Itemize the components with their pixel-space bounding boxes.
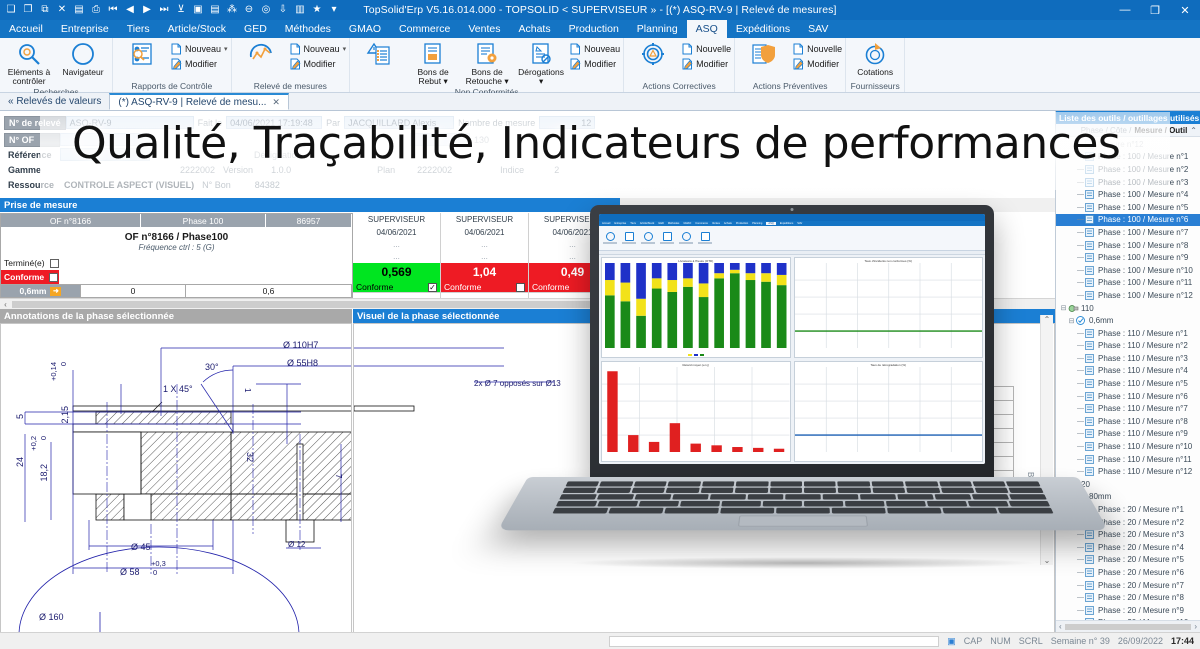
document-tab-0[interactable]: « Relevés de valeurs xyxy=(0,93,109,110)
chevron-down-icon[interactable]: ▾ xyxy=(224,45,228,53)
scrap-doc-icon xyxy=(420,41,446,67)
keyboard-key xyxy=(975,488,1009,493)
page-new-icon xyxy=(792,43,804,55)
mini-gear-icon xyxy=(682,232,691,241)
actions-correctives-button[interactable] xyxy=(627,40,679,68)
keyboard-key xyxy=(1009,488,1044,493)
bons-de-retouche-button-label: Bons de Retouche ▾ xyxy=(461,68,513,86)
status-date: 26/09/2022 xyxy=(1118,636,1163,646)
dim-182: 18,2 xyxy=(39,464,49,482)
pencil-page-icon xyxy=(289,58,301,70)
status-week: Semaine n° 39 xyxy=(1051,636,1110,646)
keyboard-key xyxy=(823,494,859,499)
nav-next-icon[interactable]: ▶ xyxy=(140,3,154,17)
keyboard-key xyxy=(838,481,870,486)
rapport-modifier-button[interactable]: Modifier xyxy=(170,58,228,70)
keyboard-key xyxy=(770,481,802,486)
label-numero-of: N° OF xyxy=(4,133,60,147)
releve-nouveau-button[interactable]: Nouveau▾ xyxy=(289,43,347,55)
keyboard-key xyxy=(804,501,843,506)
releve-modifier-button-label: Modifier xyxy=(304,59,336,69)
menu-tab-accueil[interactable]: Accueil xyxy=(0,20,52,38)
report-icon[interactable]: ▤ xyxy=(208,3,222,17)
chevron-down-icon[interactable]: ▾ xyxy=(343,45,347,53)
tree-twisty[interactable]: — xyxy=(1076,191,1085,198)
annotations-pane: Annotations de la phase sélectionnée xyxy=(0,309,352,632)
column-dots-1: ... xyxy=(353,239,440,251)
measure-icon xyxy=(1085,618,1096,620)
menu-tab-m-thodes[interactable]: Méthodes xyxy=(276,20,340,38)
save-icon[interactable]: ▤ xyxy=(72,3,86,17)
dim-182-tol-up: +0,2 xyxy=(29,436,38,451)
annotations-pane-body[interactable]: Ø 110H7 Ø 55H8 30° 1 X 45° Ø 45 Ø 58 +0,… xyxy=(0,323,352,632)
rework-doc-icon xyxy=(474,41,500,67)
column-date: 04/06/2021 xyxy=(353,226,440,239)
ap-nouvelle-button-label: Nouvelle xyxy=(807,44,842,54)
footer-tolerance: 0,6mm ➜ xyxy=(1,285,81,297)
status-num: NUM xyxy=(990,636,1011,646)
scroll-left-icon[interactable]: ‹ xyxy=(0,300,11,309)
tree-twisty[interactable]: — xyxy=(1076,607,1085,614)
ribbon-small-buttons: NouvelleModifier xyxy=(681,40,731,70)
mini-shield-icon xyxy=(701,232,710,241)
rapports-de-controle-button[interactable] xyxy=(116,40,168,68)
favorite-icon[interactable]: ★ xyxy=(310,3,324,17)
warning-list-icon xyxy=(366,41,392,67)
status-cap: CAP xyxy=(964,636,983,646)
menu-tab-entreprise[interactable]: Entreprise xyxy=(52,20,118,38)
keyboard-key xyxy=(1006,481,1040,486)
tree-twisty[interactable]: — xyxy=(1076,619,1085,620)
dim-30deg: 30° xyxy=(205,362,219,372)
measurement-column-1[interactable]: SUPERVISEUR04/06/2021......0,569Conforme… xyxy=(353,213,441,298)
column-conforme-checkbox[interactable] xyxy=(516,283,525,292)
magnifier-target-icon xyxy=(16,41,42,67)
dim-215: 2,15 xyxy=(60,406,70,424)
dim-58: Ø 58 xyxy=(120,567,140,577)
tree-scroll-right-icon[interactable]: › xyxy=(1194,622,1197,631)
main-menu-bar[interactable]: AccueilEntrepriseTiersArticle/StockGEDMé… xyxy=(0,20,1200,38)
measure-icon xyxy=(1085,228,1096,237)
tree-node-label: Phase : 20 / Mesure n°2 xyxy=(1098,518,1184,527)
field-ressource[interactable]: CONTROLE ASPECT (VISUEL) xyxy=(60,180,198,190)
mini-ribbon-group xyxy=(698,232,712,244)
collapse-icon[interactable]: ⌃ xyxy=(1190,126,1197,135)
mini-label xyxy=(660,242,674,244)
mini-menu-tab: Expéditions xyxy=(780,222,793,225)
nc-modifier-button[interactable]: Modifier xyxy=(569,58,620,70)
pencil-page-icon xyxy=(792,58,804,70)
keyboard-key xyxy=(887,508,942,514)
measure-icon xyxy=(1085,190,1096,199)
footer-min: 0 xyxy=(81,285,186,297)
ribbon-group-title: Fournisseurs xyxy=(849,81,901,92)
nc-nouveau-button-label: Nouveau xyxy=(584,44,620,54)
field-numero-bon[interactable]: 84382 xyxy=(251,180,284,190)
navigateur-button-label: Navigateur xyxy=(62,68,103,77)
measure-icon xyxy=(1085,278,1096,287)
gear-warning-icon xyxy=(640,41,666,67)
filter-icon[interactable]: ⊻ xyxy=(174,3,188,17)
derogations-button-label: Dérogations ▾ xyxy=(515,68,567,86)
tree-node-label: Phase : 110 / Mesure n°1 xyxy=(1098,329,1188,338)
termine-row[interactable]: Terminé(e) xyxy=(1,256,352,270)
keyboard-key xyxy=(631,488,665,493)
column-conforme-label: Conforme xyxy=(444,282,481,292)
trend-chart-icon xyxy=(248,41,274,67)
cotations-button[interactable]: Cotations xyxy=(849,40,901,78)
ribbon-group-non-conformit-s: Bons de Rebut ▾Bons de Retouche ▾Dérogat… xyxy=(350,38,624,92)
tree-node-label: Phase : 110 / Mesure n°5 xyxy=(1098,379,1188,388)
bons-de-retouche-button[interactable]: Bons de Retouche ▾ xyxy=(461,40,513,87)
keyboard-key xyxy=(998,508,1054,514)
mini-search-icon xyxy=(606,232,615,241)
keyboard-key xyxy=(968,501,1009,506)
keyboard-key xyxy=(680,501,720,506)
tree-node-label: Phase : 110 / Mesure n°7 xyxy=(1098,404,1188,413)
dim-32: 32 xyxy=(245,452,255,462)
keyboard-row xyxy=(562,488,1043,493)
menu-tab-tiers[interactable]: Tiers xyxy=(118,20,159,38)
column-footer xyxy=(441,292,528,298)
measure-icon xyxy=(1085,379,1096,388)
menu-tab-achats[interactable]: Achats xyxy=(509,20,559,38)
chart-taux-retrogradation: Taux de rétrogradation (%) xyxy=(794,361,984,462)
elements-a-controler-button-label: Eléments à contrôler xyxy=(3,68,55,86)
keyboard-row xyxy=(552,508,1053,514)
chart-retard-moyen: Retard moyen (en j) xyxy=(601,361,791,462)
nav-prev-icon[interactable]: ◀ xyxy=(123,3,137,17)
status-message-field xyxy=(609,636,939,647)
column-value[interactable]: 1,04 xyxy=(441,263,528,282)
measurement-left-headers: OF n°8166 Phase 100 86957 xyxy=(1,214,352,227)
measure-icon xyxy=(1085,178,1096,187)
keyboard-key xyxy=(700,488,733,493)
releve-nouveau-button-label: Nouveau xyxy=(304,44,340,54)
laptop-lid: AccueilEntrepriseTiersArticle/StockGEDMé… xyxy=(590,205,994,480)
menu-tab-ged[interactable]: GED xyxy=(235,20,276,38)
ratings-icon xyxy=(862,41,888,67)
duplicate-icon[interactable]: ⧉ xyxy=(38,3,52,17)
keyboard-key xyxy=(597,494,634,499)
more-icon[interactable]: ▾ xyxy=(327,3,341,17)
tree-node-label: Phase : 20 / Mesure n°3 xyxy=(1098,530,1184,539)
mini-label xyxy=(603,242,617,244)
ap-nouvelle-button[interactable]: Nouvelle xyxy=(792,43,842,55)
measurement-left-footer: 0,6mm ➜ 0 0,6 xyxy=(1,284,352,297)
measure-icon xyxy=(1085,568,1096,577)
laptop-keyboard xyxy=(552,481,1053,513)
column-user: SUPERVISEUR xyxy=(441,213,528,226)
keyboard-key xyxy=(838,488,871,493)
header-phase: Phase 100 xyxy=(141,214,266,227)
conforme-checkbox[interactable] xyxy=(49,273,58,282)
save-as-icon[interactable]: ⎙ xyxy=(89,3,103,17)
termine-label: Terminé(e) xyxy=(4,258,45,268)
column-user: SUPERVISEUR xyxy=(353,213,440,226)
conforme-label: Conforme xyxy=(4,272,44,282)
keyboard-key xyxy=(559,494,597,499)
elements-a-controler-button[interactable]: Eléments à contrôler xyxy=(3,40,55,87)
keyboard-key xyxy=(672,494,709,499)
zoom-out-icon[interactable]: ⊖ xyxy=(242,3,256,17)
compass-icon xyxy=(70,41,96,67)
nav-first-icon[interactable]: ⏮ xyxy=(106,3,120,17)
page-new-icon xyxy=(681,43,693,55)
nc-modifier-button-label: Modifier xyxy=(584,59,616,69)
tree-node-measure[interactable]: —Phase : 20 / Mesure n°10 xyxy=(1056,617,1200,620)
keyboard-key xyxy=(1009,501,1050,506)
pencil-page-icon xyxy=(569,58,581,70)
title-bar: ❑❐⧉✕▤⎙⏮◀▶⏭⊻▣▤⁂⊖◎⇩▥★▾ TopSolid'Erp V5.16.… xyxy=(0,0,1200,20)
measurement-column-2[interactable]: SUPERVISEUR04/06/2021......1,04Conforme xyxy=(441,213,529,298)
nav-last-icon[interactable]: ⏭ xyxy=(157,3,171,17)
new-icon[interactable]: ❑ xyxy=(4,3,18,17)
mini-ribbon-group xyxy=(641,232,655,244)
keyboard-key xyxy=(565,481,599,486)
mini-menu-tab: Planning xyxy=(752,222,762,225)
tree-node-label: Phase : 110 / Mesure n°9 xyxy=(1098,429,1188,438)
dim-182-tol-lo: 0 xyxy=(39,436,48,440)
column-dots-1: ... xyxy=(441,239,528,251)
tree-node-label: Phase : 100 / Mesure n°10 xyxy=(1098,266,1193,275)
document-tab-bar[interactable]: « Relevés de valeurs(*) ASQ-RV-9 | Relev… xyxy=(0,93,1200,111)
copy-icon[interactable]: ❐ xyxy=(21,3,35,17)
screen-icon[interactable]: ▣ xyxy=(191,3,205,17)
webcam-icon xyxy=(791,208,794,211)
ribbon-group-rapports-de-contr-le: Nouveau▾ModifierRapports de Contrôle xyxy=(113,38,232,92)
tree-node-label: Phase : 110 / Mesure n°10 xyxy=(1098,442,1192,451)
measure-icon xyxy=(1085,467,1096,476)
column-conforme-row[interactable]: Conforme✓ xyxy=(353,282,440,292)
dim-1: 1 xyxy=(243,388,252,392)
mini-menu-tab: ASQ xyxy=(766,222,775,225)
keyboard-key xyxy=(860,494,896,499)
measure-icon xyxy=(1085,392,1096,401)
menu-tab-asq[interactable]: ASQ xyxy=(687,20,727,38)
chart-legend xyxy=(602,354,790,356)
menu-tab-exp-ditions[interactable]: Expéditions xyxy=(727,20,799,38)
page-new-icon xyxy=(289,43,301,55)
dim-24: 24 xyxy=(15,457,25,467)
document-tab-label: « Relevés de valeurs xyxy=(8,96,101,107)
pencil-page-icon xyxy=(681,58,693,70)
rapport-nouveau-button[interactable]: Nouveau▾ xyxy=(170,43,228,55)
close-button[interactable]: ✕ xyxy=(1170,0,1200,20)
mini-menu-tab: Accueil xyxy=(602,222,610,225)
keyboard-key xyxy=(634,481,667,486)
menu-tab-gmao[interactable]: GMAO xyxy=(340,20,390,38)
ribbon-group-actions-correctives: NouvelleModifierActions Correctives xyxy=(624,38,735,92)
termine-checkbox[interactable] xyxy=(50,259,59,268)
keyboard-key xyxy=(556,501,597,506)
maximize-button[interactable]: ❐ xyxy=(1140,0,1170,20)
keyboard-key xyxy=(927,501,968,506)
tree-node-label: Phase : 20 / Mesure n°4 xyxy=(1098,543,1184,552)
tree-node-label: Phase : 100 / Mesure n°9 xyxy=(1098,253,1188,262)
pencil-page-icon xyxy=(170,58,182,70)
tree-node-measure[interactable]: —Phase : 100 / Mesure n°4 xyxy=(1056,188,1200,201)
mini-label xyxy=(679,242,693,244)
ribbon-small-buttons: NouveauModifier xyxy=(569,40,620,70)
menu-tab-article-stock[interactable]: Article/Stock xyxy=(159,20,235,38)
navigateur-button[interactable]: Navigateur xyxy=(57,40,109,78)
chart-svg xyxy=(795,263,983,348)
minimize-button[interactable]: — xyxy=(1110,0,1140,20)
keyboard-row xyxy=(559,494,1047,499)
measure-icon xyxy=(1085,266,1096,275)
measure-icon xyxy=(1085,530,1096,539)
measure-icon xyxy=(1085,543,1096,552)
tree-scroll-left-icon[interactable]: ‹ xyxy=(1059,622,1062,631)
keyboard-key xyxy=(608,508,663,514)
column-conforme-row[interactable]: Conforme xyxy=(441,282,528,292)
tree-twisty[interactable]: — xyxy=(1076,179,1085,186)
keyboard-key xyxy=(562,488,597,493)
non-conformites-button[interactable] xyxy=(353,40,405,68)
column-conforme-checkbox[interactable]: ✓ xyxy=(428,283,437,292)
keyboard-key xyxy=(763,501,802,506)
delete-icon[interactable]: ✕ xyxy=(55,3,69,17)
ribbon-small-buttons: Nouveau▾Modifier xyxy=(289,40,347,70)
prise-de-mesure-title: Prise de mesure xyxy=(0,198,620,212)
download-icon[interactable]: ⇩ xyxy=(276,3,290,17)
tree-node-measure[interactable]: —Phase : 20 / Mesure n°9 xyxy=(1056,604,1200,617)
keyboard-key xyxy=(785,494,821,499)
actions-preventives-button[interactable] xyxy=(738,40,790,68)
ribbon-group-title: Actions Correctives xyxy=(627,81,731,92)
measure-icon xyxy=(1085,215,1096,224)
document-tab-1[interactable]: (*) ASQ-RV-9 | Relevé de mesu...✕ xyxy=(109,93,289,110)
arrow-right-icon: ➜ xyxy=(50,287,61,296)
measure-icon xyxy=(1085,442,1096,451)
laptop-screen: AccueilEntrepriseTiersArticle/StockGEDMé… xyxy=(599,214,985,464)
tree-node-label: Phase : 110 / Mesure n°11 xyxy=(1098,455,1192,464)
keyboard-key xyxy=(832,508,886,514)
mini-dashboard: AccueilEntrepriseTiersArticle/StockGEDMé… xyxy=(599,214,985,464)
mini-menu-tab: Achats xyxy=(724,222,732,225)
keyboard-key xyxy=(935,494,972,499)
ac-nouvelle-button-label: Nouvelle xyxy=(696,44,731,54)
tree-node-measure[interactable]: —Phase : 100 / Mesure n°3 xyxy=(1056,176,1200,189)
measure-icon xyxy=(1085,354,1096,363)
menu-tab-planning[interactable]: Planning xyxy=(628,20,687,38)
header-of-numero: OF n°8166 xyxy=(1,214,141,227)
keyboard-key xyxy=(720,508,774,514)
dim-45: Ø 45 xyxy=(131,542,151,552)
menu-tab-production[interactable]: Production xyxy=(560,20,628,38)
derogations-button[interactable]: Dérogations ▾ xyxy=(515,40,567,87)
releve-de-mesures-button[interactable] xyxy=(235,40,287,68)
tree-node-label: Phase : 100 / Mesure n°11 xyxy=(1098,278,1192,287)
tools-tree-footer-scroll[interactable]: ‹ › xyxy=(1056,620,1200,632)
menu-tab-ventes[interactable]: Ventes xyxy=(459,20,509,38)
ribbon-small-buttons: Nouveau▾Modifier xyxy=(170,40,228,70)
column-conforme-label: Conforme xyxy=(356,282,393,292)
ribbon-toolbar[interactable]: Eléments à contrôlerNavigateurRecherches… xyxy=(0,38,1200,93)
keyboard-key xyxy=(664,508,719,514)
column-value[interactable]: 0,569 xyxy=(353,263,440,282)
measure-icon xyxy=(1085,253,1096,262)
close-tab-icon[interactable]: ✕ xyxy=(272,97,280,108)
dim-7: 7 xyxy=(334,474,343,478)
measure-icon xyxy=(1085,329,1096,338)
column-dots-2: ... xyxy=(353,251,440,263)
ap-modifier-button[interactable]: Modifier xyxy=(792,58,842,70)
mini-ribbon xyxy=(599,226,985,251)
nc-nouveau-button[interactable]: Nouveau xyxy=(569,43,620,55)
chart-taux-incidents: Taux d'incidents non conformes (%) xyxy=(794,257,984,358)
window-icon[interactable]: ▥ xyxy=(293,3,307,17)
keyboard-key xyxy=(872,488,905,493)
tree-node-label: Phase : 20 / Mesure n°5 xyxy=(1098,555,1184,564)
status-scrl: SCRL xyxy=(1019,636,1043,646)
ribbon-small-buttons: NouvelleModifier xyxy=(792,40,842,70)
dim-58-tol-up: +0,3 xyxy=(151,559,166,568)
tree-node-label: 80mm xyxy=(1089,492,1111,501)
measure-icon xyxy=(1085,429,1096,438)
bons-de-rebut-button[interactable]: Bons de Rebut ▾ xyxy=(407,40,459,87)
mini-menu-tab: Entreprise xyxy=(614,222,626,225)
mini-menu-tab: Tiers xyxy=(630,222,636,225)
share-icon[interactable]: ⁂ xyxy=(225,3,239,17)
conforme-row[interactable]: Conforme xyxy=(1,270,59,284)
measure-icon xyxy=(1085,593,1096,602)
of-phase-frequence: Fréquence ctrl : 5 (G) xyxy=(138,243,214,252)
menu-tab-sav[interactable]: SAV xyxy=(799,20,837,38)
footer-max: 0,6 xyxy=(186,285,352,297)
keyboard-key xyxy=(552,508,608,514)
laptop-shadow xyxy=(568,557,1038,569)
mini-menu-tab: Commerce xyxy=(695,222,708,225)
ac-modifier-button[interactable]: Modifier xyxy=(681,58,731,70)
keyboard-key xyxy=(939,481,972,486)
measure-icon xyxy=(1085,241,1096,250)
technical-drawing[interactable]: Ø 110H7 Ø 55H8 30° 1 X 45° Ø 45 Ø 58 +0,… xyxy=(1,324,351,632)
tree-node-label: Phase : 20 / Mesure n°6 xyxy=(1098,568,1184,577)
keyboard-key xyxy=(597,488,631,493)
tree-node-label: Phase : 110 / Mesure n°2 xyxy=(1098,341,1188,350)
tree-node-label: Phase : 110 / Mesure n°12 xyxy=(1098,467,1192,476)
releve-modifier-button[interactable]: Modifier xyxy=(289,58,347,70)
keyboard-key xyxy=(666,488,700,493)
rapport-modifier-button-label: Modifier xyxy=(185,59,217,69)
footer-tolerance-value: 0,6mm xyxy=(20,286,47,296)
annotations-pane-title: Annotations de la phase sélectionnée xyxy=(0,309,352,323)
keyboard-key xyxy=(635,494,672,499)
tree-scroll-thumb[interactable] xyxy=(1065,624,1192,630)
measurement-grid-left: OF n°8166 Phase 100 86957 OF n°8166 / Ph… xyxy=(0,213,353,298)
chart-livraisons-fournisseurs: Livraisons à l'heure (OTD) xyxy=(601,257,791,358)
of-phase-title: OF n°8166 / Phase100 xyxy=(125,232,229,243)
laptop-mockup: AccueilEntrepriseTiersArticle/StockGEDMé… xyxy=(528,205,1078,605)
keyboard-key xyxy=(941,488,975,493)
menu-tab-commerce[interactable]: Commerce xyxy=(390,20,459,38)
mini-ribbon-group xyxy=(679,232,693,244)
measure-icon xyxy=(1085,417,1096,426)
search-icon[interactable]: ◎ xyxy=(259,3,273,17)
ac-nouvelle-button[interactable]: Nouvelle xyxy=(681,43,731,55)
dim-160: Ø 160 xyxy=(39,612,64,622)
chart-svg xyxy=(795,367,983,452)
keyboard-key xyxy=(639,501,680,506)
ribbon-group-actions-pr-ventives: NouvelleModifierActions Préventives xyxy=(735,38,846,92)
ribbon-group-title: Rapports de Contrôle xyxy=(116,81,228,92)
keyboard-key xyxy=(905,481,938,486)
quick-access-toolbar[interactable]: ❑❐⧉✕▤⎙⏮◀▶⏭⊻▣▤⁂⊖◎⇩▥★▾ xyxy=(0,3,341,17)
page-new-icon xyxy=(569,43,581,55)
window-controls[interactable]: — ❐ ✕ xyxy=(1110,0,1200,20)
